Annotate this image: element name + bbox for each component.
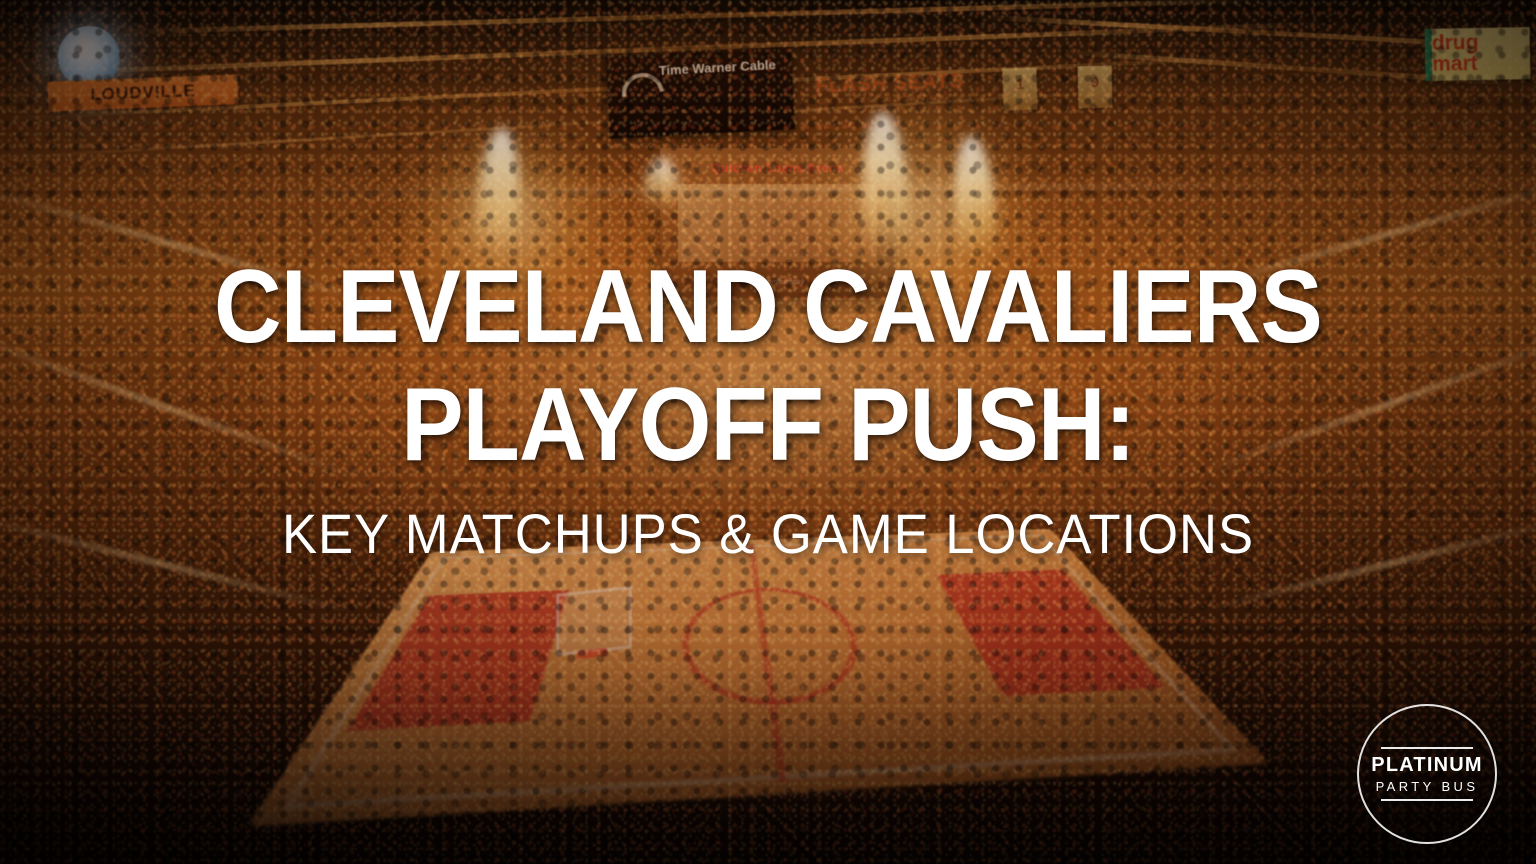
arena-photograph: LOUDVILLE Time Warner Cable FLASH SEATS …: [0, 0, 1536, 864]
logo-primary-text: PLATINUM: [1371, 754, 1482, 776]
vignette-overlay: [0, 0, 1536, 864]
logo-rule-bottom: [1381, 799, 1473, 801]
banner-image: LOUDVILLE Time Warner Cable FLASH SEATS …: [0, 0, 1536, 864]
platinum-party-bus-logo[interactable]: PLATINUM PARTY BUS: [1357, 704, 1497, 844]
logo-rule-top: [1381, 747, 1473, 749]
logo-secondary-text: PARTY BUS: [1376, 779, 1479, 794]
